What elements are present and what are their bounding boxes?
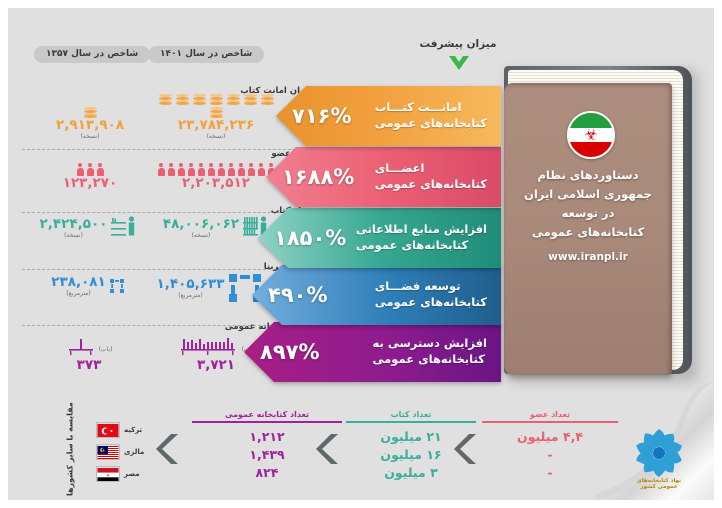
malaysia-flag-icon: ★	[96, 444, 120, 460]
column-value: -	[482, 446, 618, 464]
ribbon-text: امانـــت کتـــابکتابخانه‌های عمومی	[375, 86, 487, 146]
library-bars-icon	[66, 336, 96, 356]
logo-caption: نهاد کتابخانه‌های عمومی کشور	[626, 478, 692, 490]
coin-stack-icon	[156, 94, 276, 118]
value-number: ۴۸,۰۰۶,۰۶۲	[163, 217, 239, 232]
ribbon-books[interactable]: افزایش منابع اطلاعاتیکتابخانه‌های عمومی …	[258, 208, 501, 268]
old-value-cell-area: ۲۳۸,۰۸۱ (مترمربع)	[30, 275, 145, 297]
ribbon-text: اعضـــایکتابخانه‌های عمومی	[375, 147, 487, 207]
book-title-line: در توسعه	[512, 204, 664, 223]
comparison-section: مقایسه با سایر کشورها ترکیه مالزی ★ مصر	[16, 406, 676, 492]
value-number: ۲۳۸,۰۸۱	[51, 275, 106, 290]
old-value-cell-members: ۱۲۳,۲۷۰	[30, 160, 150, 191]
column-value: ۳ میلیون	[346, 464, 476, 482]
ribbon-percent: ۸۹۷%	[260, 322, 320, 382]
chevron-right-icon	[316, 432, 342, 466]
chevron-down-icon	[448, 55, 470, 71]
header-pill-year-1401: شاخص در سال ۱۴۰۱	[148, 46, 264, 63]
column-rule	[192, 421, 342, 423]
infographic-page: شاخص در سال ۱۳۵۷ شاخص در سال ۱۴۰۱ میزان …	[0, 0, 722, 508]
country-name: مصر	[124, 470, 148, 478]
infographic-canvas: شاخص در سال ۱۳۵۷ شاخص در سال ۱۴۰۱ میزان …	[8, 8, 714, 500]
value-number: ۲,۴۲۴,۵۰۰	[40, 217, 108, 232]
ribbon-text: افزایش دسترسی بهکتابخانه‌های عمومی	[373, 322, 487, 382]
iran-flag-icon: ☣	[567, 111, 615, 159]
ribbon-text: توسعه فضـــایکتابخانه‌های عمومی	[375, 265, 487, 325]
library-bars-icon	[177, 336, 239, 356]
book-title-line: کتابخانه‌های عمومی	[512, 223, 664, 242]
value-number: ۲,۹۱۳,۹۰۸	[30, 118, 150, 133]
new-value-cell-loans: ۲۳,۷۸۴,۲۳۶ (نسخه)	[156, 94, 276, 140]
country-row-malaysia: مالزی ★	[96, 444, 148, 460]
data-row-book-loans: میزان امانت کتاب ۲۳,۷۸۴,۲۳۶ (نسخه) ۲,۹۱۳…	[16, 88, 316, 150]
column-header: تعداد عضو	[482, 410, 618, 421]
ribbon-members[interactable]: اعضـــایکتابخانه‌های عمومی ۱۶۸۸%	[266, 147, 501, 207]
value-number: ۲,۲۰۳,۵۱۲	[156, 176, 276, 191]
country-row-egypt: مصر	[96, 466, 148, 482]
ribbon-book-loans[interactable]: امانـــت کتـــابکتابخانه‌های عمومی ۷۱۶%	[276, 86, 501, 146]
comparison-column-members: تعداد عضو ۴,۴ میلیون - -	[482, 410, 618, 482]
chevron-right-icon	[454, 432, 480, 466]
people-icon	[156, 160, 276, 176]
coin-stack-icon	[30, 94, 150, 118]
column-header: تعداد کتاب	[346, 410, 476, 421]
iran-emblem-icon: ☣	[584, 128, 597, 143]
value-number: ۲۳,۷۸۴,۲۳۶	[156, 118, 276, 133]
ribbon-libraries[interactable]: افزایش دسترسی بهکتابخانه‌های عمومی ۸۹۷%	[244, 322, 501, 382]
floorplan-icon	[110, 279, 124, 293]
bookshelf-icon	[111, 216, 137, 240]
book-url[interactable]: www.iranpl.ir	[512, 251, 664, 263]
pinwheel-rosette-logo	[628, 420, 690, 486]
ribbon-floor-area[interactable]: توسعه فضـــایکتابخانه‌های عمومی ۴۹۰%	[252, 265, 501, 325]
old-value-cell-libraries: (باب) ۳۷۳	[30, 336, 148, 373]
svg-text:★: ★	[102, 448, 105, 452]
book-title: دستاوردهای نظام جمهوری اسلامی ایران در ت…	[512, 166, 664, 242]
ribbon-percent: ۷۱۶%	[292, 86, 352, 146]
header-pill-year-1357: شاخص در سال ۱۳۵۷	[34, 46, 150, 63]
column-value: ۴,۴ میلیون	[482, 428, 618, 446]
country-row-turkey: ترکیه	[96, 422, 148, 438]
turkey-flag-icon	[96, 422, 120, 438]
people-icon	[30, 160, 150, 176]
value-unit: (باب)	[99, 346, 113, 353]
ribbon-percent: ۱۸۵۰%	[274, 208, 346, 268]
value-unit: (مترمربع)	[157, 292, 225, 299]
country-name: ترکیه	[124, 426, 148, 434]
country-name: مالزی	[124, 448, 148, 456]
value-unit: (نسخه)	[163, 232, 239, 239]
value-unit: (نسخه)	[40, 232, 108, 239]
column-header: تعداد کتابخانه عمومی	[192, 410, 342, 421]
egypt-flag-icon	[96, 466, 120, 482]
new-value-cell-members: ۲,۲۰۳,۵۱۲	[156, 160, 276, 191]
column-rule	[346, 421, 476, 423]
progress-label: میزان پیشرفت	[403, 38, 513, 50]
value-number: ۱,۴۰۵,۶۳۳	[157, 277, 225, 292]
value-number: ۱۲۳,۲۷۰	[30, 176, 150, 191]
value-unit: (نسخه)	[156, 133, 276, 140]
comparison-vertical-label: مقایسه با سایر کشورها	[62, 406, 78, 492]
column-value: -	[482, 464, 618, 482]
column-value: ۸۲۴	[192, 464, 342, 482]
chevron-right-icon	[156, 432, 182, 466]
value-unit: (نسخه)	[30, 133, 150, 140]
ribbon-text: افزایش منابع اطلاعاتیکتابخانه‌های عمومی	[356, 208, 487, 268]
ribbon-percent: ۴۹۰%	[268, 265, 328, 325]
value-unit: (مترمربع)	[51, 290, 106, 297]
old-value-cell-loans: ۲,۹۱۳,۹۰۸ (نسخه)	[30, 94, 150, 140]
ribbon-percent: ۱۶۸۸%	[282, 147, 354, 207]
value-number: ۳۷۳	[30, 358, 148, 373]
book-title-line: جمهوری اسلامی ایران	[512, 185, 664, 204]
old-value-cell-books: ۲,۴۲۴,۵۰۰ (نسخه)	[26, 216, 151, 240]
book-title-line: دستاوردهای نظام	[512, 166, 664, 185]
column-rule	[482, 421, 618, 423]
